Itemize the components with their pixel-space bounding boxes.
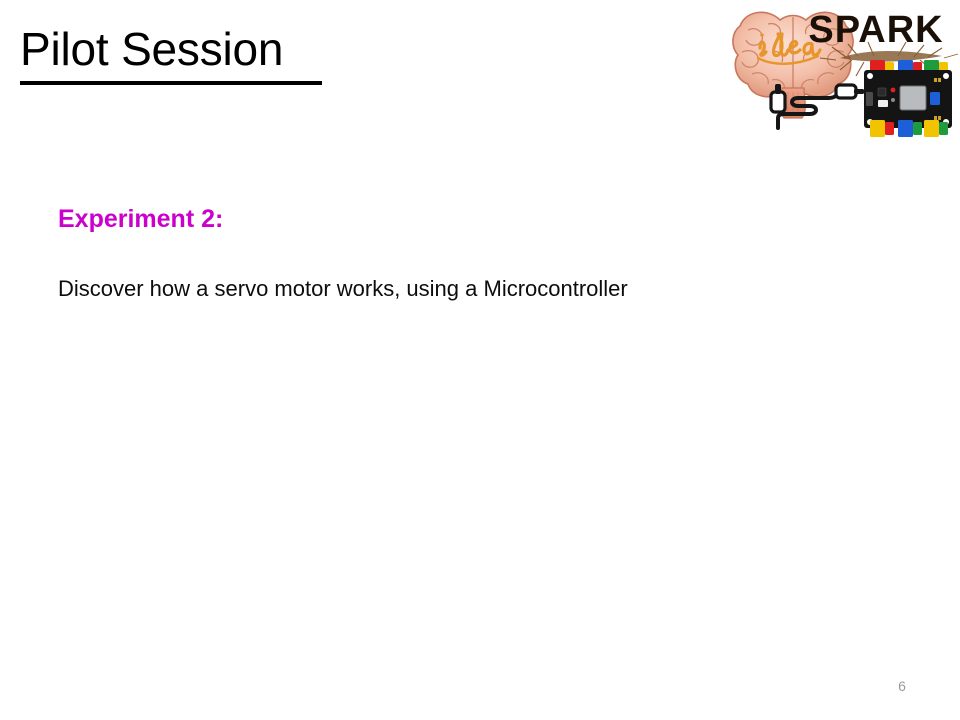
spark-wordmark-text: SPARK (808, 9, 943, 51)
slide-canvas: Pilot Session (0, 0, 960, 720)
title-underline-rule (20, 81, 322, 85)
microcontroller-board-icon (864, 60, 952, 137)
usb-connector-board (836, 85, 864, 98)
experiment-description: Discover how a servo motor works, using … (58, 276, 628, 302)
page-title: Pilot Session (20, 26, 283, 72)
idea-spark-logo: SPARK (728, 0, 960, 142)
alligator-clips-bottom (870, 120, 948, 137)
page-number: 6 (890, 678, 914, 694)
experiment-heading: Experiment 2: (58, 205, 223, 234)
